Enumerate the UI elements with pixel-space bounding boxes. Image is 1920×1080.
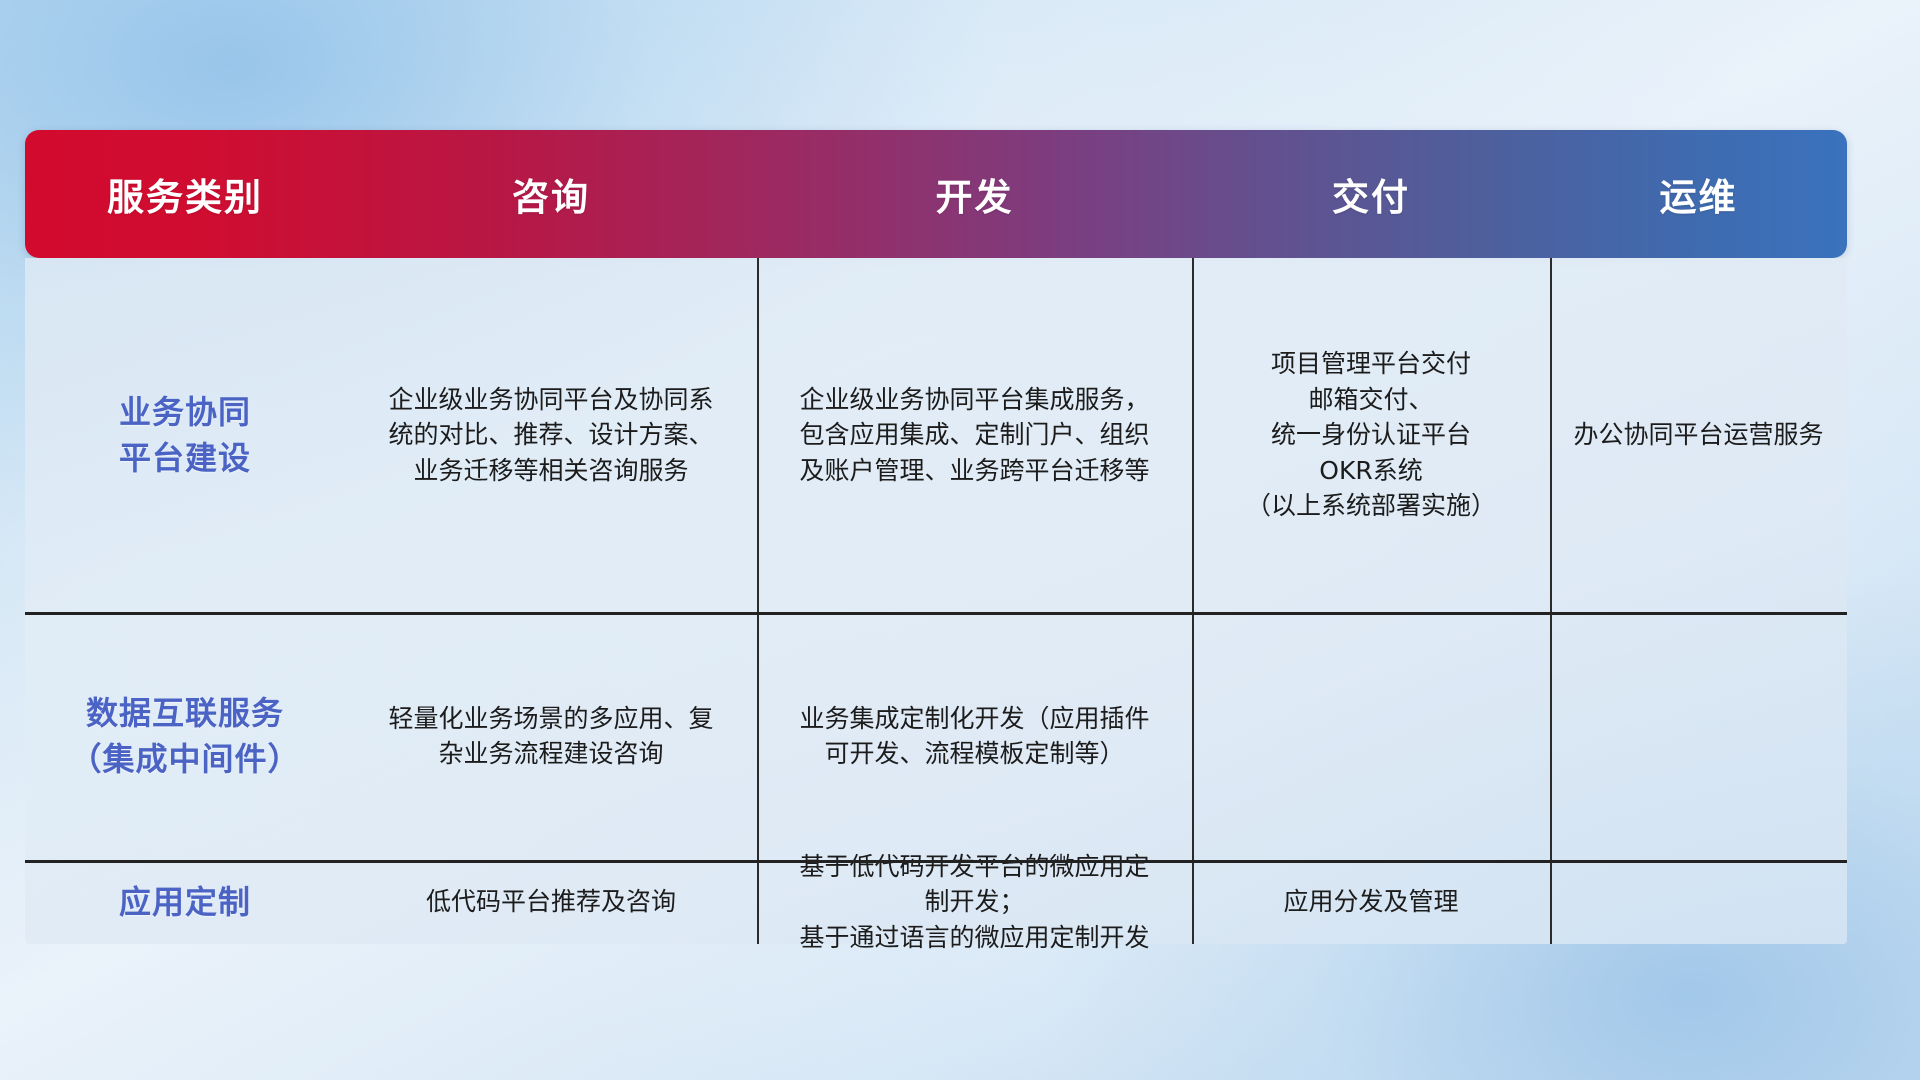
cell-delivery: 应用分发及管理 — [1192, 860, 1550, 944]
column-header-consulting: 咨询 — [345, 130, 757, 258]
cell-development: 基于低代码开发平台的微应用定 制开发； 基于通过语言的微应用定制开发 — [757, 860, 1192, 944]
cell-consulting: 低代码平台推荐及咨询 — [345, 860, 757, 944]
cell-category: 数据互联服务 （集成中间件） — [25, 612, 345, 860]
cell-consulting: 轻量化业务场景的多应用、复 杂业务流程建设咨询 — [345, 612, 757, 860]
table-body: 业务协同 平台建设 企业级业务协同平台及协同系 统的对比、推荐、设计方案、 业务… — [25, 258, 1847, 944]
slide-canvas: 服务类别 咨询 开发 交付 运维 业务协同 平台建设 企业级业务协同平台及协同系… — [0, 0, 1920, 1080]
cell-delivery — [1192, 612, 1550, 860]
cell-category: 应用定制 — [25, 860, 345, 944]
cell-operations: 办公协同平台运营服务 — [1550, 258, 1847, 612]
service-matrix-table: 服务类别 咨询 开发 交付 运维 业务协同 平台建设 企业级业务协同平台及协同系… — [25, 130, 1847, 944]
cell-delivery: 项目管理平台交付 邮箱交付、 统一身份认证平台 OKR系统 （以上系统部署实施） — [1192, 258, 1550, 612]
cell-operations — [1550, 612, 1847, 860]
column-header-delivery: 交付 — [1192, 130, 1550, 258]
table-row: 应用定制 低代码平台推荐及咨询 基于低代码开发平台的微应用定 制开发； 基于通过… — [25, 860, 1847, 944]
cell-category: 业务协同 平台建设 — [25, 258, 345, 612]
cell-consulting: 企业级业务协同平台及协同系 统的对比、推荐、设计方案、 业务迁移等相关咨询服务 — [345, 258, 757, 612]
cell-development: 业务集成定制化开发（应用插件 可开发、流程模板定制等） — [757, 612, 1192, 860]
column-header-development: 开发 — [757, 130, 1192, 258]
table-header-row: 服务类别 咨询 开发 交付 运维 — [25, 130, 1847, 258]
cell-operations — [1550, 860, 1847, 944]
column-header-category: 服务类别 — [25, 130, 345, 258]
table-row: 业务协同 平台建设 企业级业务协同平台及协同系 统的对比、推荐、设计方案、 业务… — [25, 258, 1847, 612]
cell-development: 企业级业务协同平台集成服务， 包含应用集成、定制门户、组织 及账户管理、业务跨平… — [757, 258, 1192, 612]
table-row: 数据互联服务 （集成中间件） 轻量化业务场景的多应用、复 杂业务流程建设咨询 业… — [25, 612, 1847, 860]
column-header-operations: 运维 — [1550, 130, 1847, 258]
